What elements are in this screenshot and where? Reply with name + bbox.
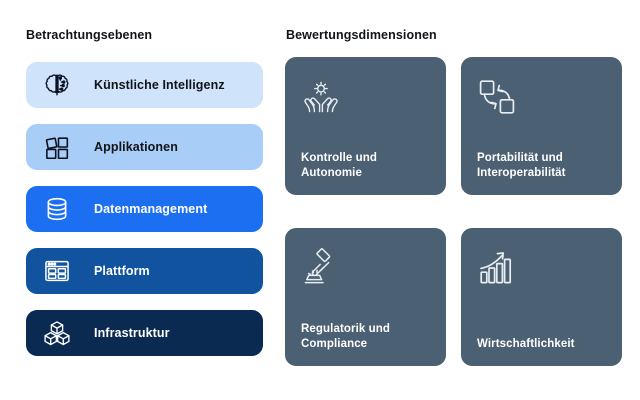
layer-item-datenmanagement[interactable]: Datenmanagement <box>26 186 263 232</box>
dimension-card-label: Wirtschaftlichkeit <box>477 337 606 352</box>
server-cubes-icon <box>40 316 74 350</box>
database-icon <box>40 192 74 226</box>
exchange-squares-icon <box>477 77 517 117</box>
dimension-card-wirtschaftlichkeit[interactable]: Wirtschaftlichkeit <box>461 228 622 366</box>
gavel-icon <box>301 248 341 288</box>
section-heading-layers: Betrachtungsebenen <box>26 28 152 42</box>
layer-item-label: Datenmanagement <box>94 202 207 216</box>
brain-icon <box>40 68 74 102</box>
layer-item-label: Infrastruktur <box>94 326 170 340</box>
layer-item-label: Applikationen <box>94 140 178 154</box>
app-tiles-icon <box>40 130 74 164</box>
dashboard-window-icon <box>40 254 74 288</box>
dimension-card-portabilitaet-und-interoperabilitaet[interactable]: Portabilität und Interoperabilität <box>461 57 622 195</box>
layer-item-applikationen[interactable]: Applikationen <box>26 124 263 170</box>
dimension-card-label: Regulatorik und Compliance <box>301 322 430 352</box>
dimension-card-regulatorik-und-compliance[interactable]: Regulatorik und Compliance <box>285 228 446 366</box>
layer-list: Künstliche Intelligenz Applikationen <box>26 62 263 356</box>
dimension-card-kontrolle-und-autonomie[interactable]: Kontrolle und Autonomie <box>285 57 446 195</box>
growth-bars-icon <box>477 248 517 288</box>
section-heading-dimensions: Bewertungsdimensionen <box>286 28 437 42</box>
dimension-card-label: Kontrolle und Autonomie <box>301 151 430 181</box>
layer-item-infrastruktur[interactable]: Infrastruktur <box>26 310 263 356</box>
dimension-grid: Kontrolle und Autonomie Portabilität und… <box>285 57 622 366</box>
gear-in-hands-icon <box>301 77 341 117</box>
dimension-card-label: Portabilität und Interoperabilität <box>477 151 606 181</box>
layer-item-label: Künstliche Intelligenz <box>94 78 225 92</box>
layer-item-plattform[interactable]: Plattform <box>26 248 263 294</box>
layer-item-label: Plattform <box>94 264 150 278</box>
layer-item-kuenstliche-intelligenz[interactable]: Künstliche Intelligenz <box>26 62 263 108</box>
infographic-canvas: Betrachtungsebenen Bewertungsdimensionen… <box>0 0 640 400</box>
